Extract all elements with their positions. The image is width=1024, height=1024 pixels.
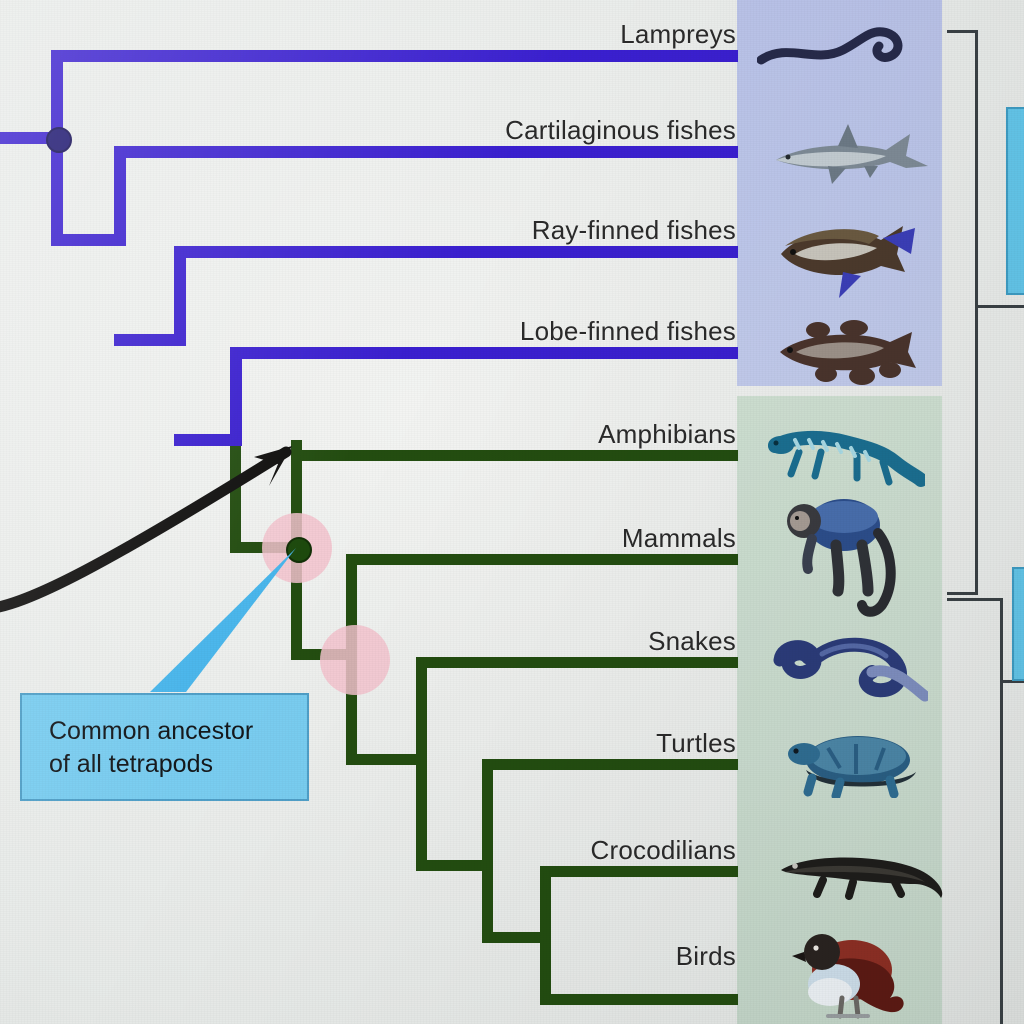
salamander-icon (765, 418, 925, 490)
bird-icon (790, 922, 914, 1022)
trunk-node3 (174, 246, 186, 346)
root-node (46, 127, 72, 153)
tip-label-amphibians: Amphibians (338, 419, 736, 450)
bracket-tetrapods-vertical (1000, 598, 1003, 1024)
shark-icon (760, 116, 932, 190)
bracket-fishes-bottom-tick (947, 592, 978, 595)
bracket-fishes-top-tick (947, 30, 978, 33)
coelacanth-icon (762, 310, 928, 388)
branch-cartilaginous-fishes (114, 146, 738, 158)
snake-icon (768, 626, 928, 704)
tip-label-snakes: Snakes (338, 626, 736, 657)
branch-crocodilians (540, 866, 738, 877)
ray-finned-fish-icon (765, 210, 921, 302)
right-callout-box-lower (1012, 567, 1024, 681)
figure-canvas: Lampreys Cartilaginous fishes Ray-finned… (0, 0, 1024, 1024)
trunk-archosaur-stem (482, 860, 493, 943)
branch-birds (540, 994, 738, 1005)
tip-label-lobe-finned-fishes: Lobe-finned fishes (338, 316, 736, 347)
tip-label-turtles: Turtles (338, 728, 736, 759)
turtle-icon (782, 730, 926, 798)
branch-turtles (482, 759, 738, 770)
branch-lampreys (51, 50, 738, 62)
tip-label-mammals: Mammals (338, 523, 736, 554)
branch-ray-finned-fishes (174, 246, 738, 258)
trunk-archosaurs (540, 866, 551, 1005)
crocodile-icon (775, 842, 953, 902)
branch-mammals (346, 554, 738, 565)
bracket-fishes-mid-tick (975, 305, 1024, 308)
bracket-fishes-vertical (975, 30, 978, 595)
tip-label-ray-finned-fishes: Ray-finned fishes (338, 215, 736, 246)
annotation-arrow (0, 424, 316, 614)
branch-lobe-finned-fishes (230, 347, 738, 359)
branch-amphibians (291, 450, 738, 461)
tip-label-birds: Birds (338, 941, 736, 972)
tip-label-crocodilians: Crocodilians (338, 835, 736, 866)
trunk-node2 (114, 146, 126, 246)
right-callout-box-upper (1006, 107, 1024, 295)
bracket-tetrapods-top-tick (947, 598, 1003, 601)
tip-label-lampreys: Lampreys (338, 19, 736, 50)
branch-snakes (416, 657, 738, 668)
lamprey-icon (757, 24, 907, 70)
monkey-icon (778, 487, 916, 617)
common-ancestor-callout: Common ancestor of all tetrapods (20, 693, 309, 801)
tip-label-cartilaginous-fishes: Cartilaginous fishes (338, 115, 736, 146)
common-ancestor-callout-text: Common ancestor of all tetrapods (49, 715, 253, 781)
